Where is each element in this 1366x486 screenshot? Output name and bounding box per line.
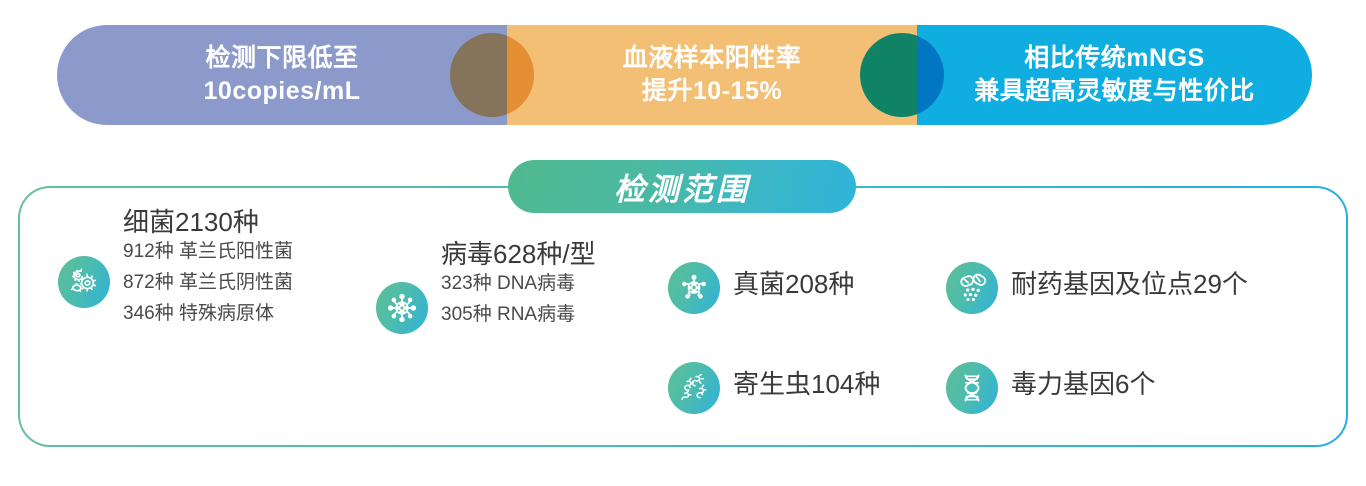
list-item-amr: 耐药基因及位点29个 bbox=[946, 262, 1248, 314]
parasite-icon bbox=[668, 362, 720, 414]
banner-text-blood-positive-rate: 血液样本阳性率 提升10-15% bbox=[507, 25, 917, 125]
list-item-fungus: 真菌208种 bbox=[668, 262, 854, 314]
item-text-block: 病毒628种/型 323种 DNA病毒 305种 RNA病毒 bbox=[441, 240, 596, 331]
banner-line-1: 检测下限低至 bbox=[205, 42, 358, 75]
item-text-block: 真菌208种 bbox=[733, 270, 854, 299]
item-sub: 912种 革兰氏阳性菌 bbox=[123, 237, 293, 268]
item-title: 真菌208种 bbox=[733, 270, 854, 299]
item-sub: 872种 革兰氏阴性菌 bbox=[123, 268, 293, 299]
banner-line-1: 相比传统mNGS bbox=[1024, 42, 1204, 75]
banner-line-2: 提升10-15% bbox=[642, 75, 782, 108]
banner-text-vs-traditional-mngs: 相比传统mNGS 兼具超高灵敏度与性价比 bbox=[917, 25, 1312, 125]
item-text-block: 耐药基因及位点29个 bbox=[1011, 270, 1248, 299]
item-text-block: 寄生虫104种 bbox=[733, 370, 880, 399]
item-text-block: 细菌2130种 912种 革兰氏阳性菌 872种 革兰氏阴性菌 346种 特殊病… bbox=[123, 208, 293, 330]
card-title-pill: 检测范围 bbox=[508, 160, 856, 213]
list-item-parasite: 寄生虫104种 bbox=[668, 362, 880, 414]
bacteria-icon bbox=[58, 256, 110, 308]
page-title: 检测范围 bbox=[614, 164, 750, 209]
banner-text-detection-limit: 检测下限低至 10copies/mL bbox=[57, 25, 507, 125]
highlights-banner: 检测下限低至 10copies/mL 血液样本阳性率 提升10-15% 相比传统… bbox=[57, 25, 1312, 125]
item-sub: 305种 RNA病毒 bbox=[441, 300, 596, 331]
item-title: 毒力基因6个 bbox=[1011, 370, 1155, 399]
detection-scope-items: 细菌2130种 912种 革兰氏阳性菌 872种 革兰氏阴性菌 346种 特殊病… bbox=[18, 186, 1348, 447]
list-item-virus: 病毒628种/型 323种 DNA病毒 305种 RNA病毒 bbox=[376, 282, 596, 334]
fungus-icon bbox=[668, 262, 720, 314]
banner-line-2: 兼具超高灵敏度与性价比 bbox=[974, 75, 1255, 108]
banner-line-2: 10copies/mL bbox=[204, 75, 361, 108]
item-title: 病毒628种/型 bbox=[441, 240, 596, 269]
item-title: 耐药基因及位点29个 bbox=[1011, 270, 1248, 299]
item-title: 细菌2130种 bbox=[123, 208, 293, 237]
item-sub: 323种 DNA病毒 bbox=[441, 269, 596, 300]
virus-icon bbox=[376, 282, 428, 334]
item-title: 寄生虫104种 bbox=[733, 370, 880, 399]
dna-icon bbox=[946, 362, 998, 414]
item-text-block: 毒力基因6个 bbox=[1011, 370, 1155, 399]
list-item-bacteria: 细菌2130种 912种 革兰氏阳性菌 872种 革兰氏阴性菌 346种 特殊病… bbox=[58, 256, 293, 330]
list-item-virulence: 毒力基因6个 bbox=[946, 362, 1155, 414]
capsule-icon bbox=[946, 262, 998, 314]
banner-line-1: 血液样本阳性率 bbox=[623, 42, 802, 75]
item-sub: 346种 特殊病原体 bbox=[123, 299, 293, 330]
